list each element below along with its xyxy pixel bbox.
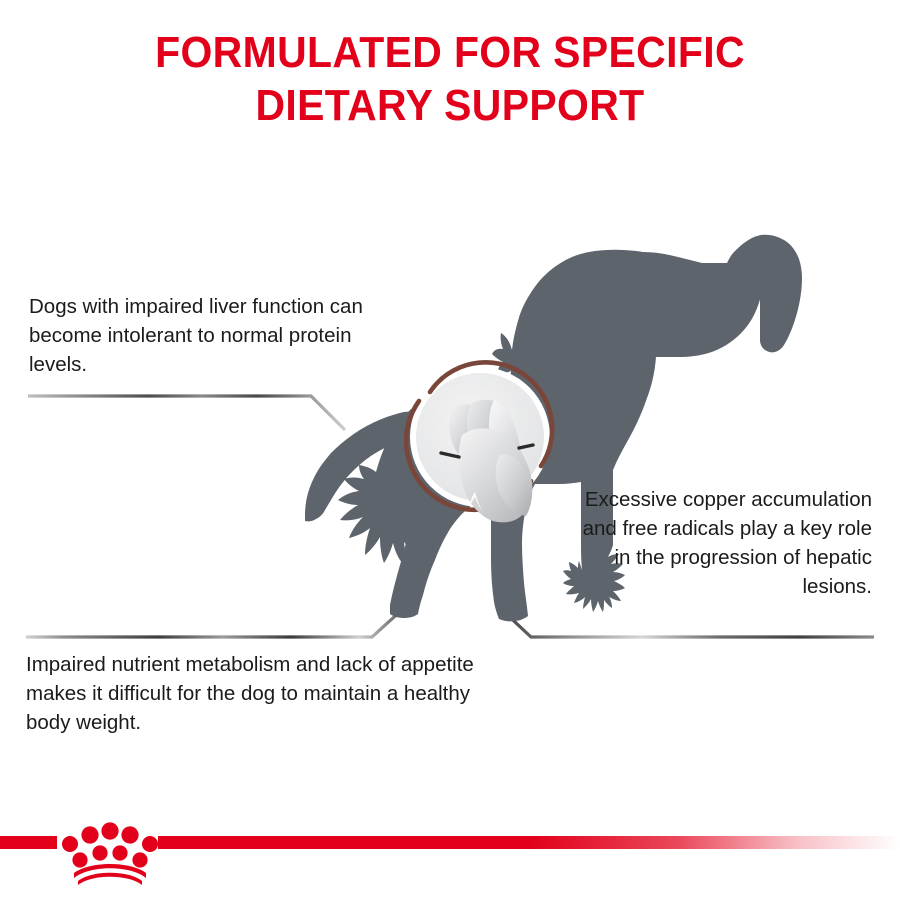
leader-line-metabolism xyxy=(26,608,404,637)
headline-line-1: FORMULATED FOR SPECIFIC xyxy=(32,26,869,79)
callout-metabolism-text: Impaired nutrient metabolism and lack of… xyxy=(26,650,476,737)
brand-bar-left xyxy=(0,836,57,849)
liver-callout-circle xyxy=(406,362,552,522)
callout-copper-text: Excessive copper accumulation and free r… xyxy=(572,485,872,601)
infographic-page: FORMULATED FOR SPECIFIC DIETARY SUPPORT xyxy=(0,0,900,900)
brand-bar-right xyxy=(158,836,900,849)
liver-organ xyxy=(441,400,533,523)
illustration-group xyxy=(0,0,900,900)
page-title: FORMULATED FOR SPECIFIC DIETARY SUPPORT xyxy=(32,26,869,132)
headline-line-2: DIETARY SUPPORT xyxy=(32,79,869,132)
callout-protein-text: Dogs with impaired liver function can be… xyxy=(29,292,379,379)
circle-ring-arcs xyxy=(406,362,552,510)
leader-line-copper xyxy=(500,608,874,637)
callout-copper: Excessive copper accumulation and free r… xyxy=(572,485,872,601)
callout-protein: Dogs with impaired liver function can be… xyxy=(29,292,379,379)
leader-line-protein xyxy=(28,396,345,430)
brand-footer xyxy=(0,820,900,890)
royal-canin-crown xyxy=(62,822,158,885)
callout-metabolism: Impaired nutrient metabolism and lack of… xyxy=(26,650,476,737)
